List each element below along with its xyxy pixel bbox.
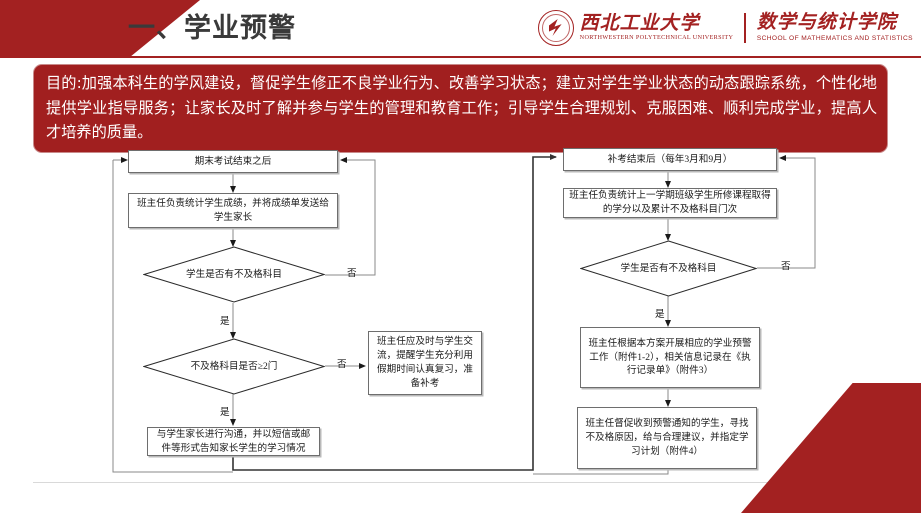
left-action-makeup-node: 班主任应及时与学生交流，提醒学生充分利用假期时间认真复习，准备补考 xyxy=(368,331,482,395)
left-decision1-no-label: 否 xyxy=(347,265,357,279)
right-step2-node: 班主任根据本方案开展相应的学业预警工作（附件1-2），相关信息记录在《执行记录单… xyxy=(580,327,760,388)
slide-root: 一、学业预警 西北工业大学 NORTHWESTERN POLYTECHNICAL… xyxy=(0,0,921,513)
left-decision2-no-label: 否 xyxy=(337,356,347,370)
left-step1-node: 班主任负责统计学生成绩，并将成绩单发送给学生家长 xyxy=(128,193,338,228)
right-decision1-node: 学生是否有不及格科目 xyxy=(580,240,757,297)
right-decision1-label: 学生是否有不及格科目 xyxy=(580,240,757,297)
left-decision2-label: 不及格科目是否≥2门 xyxy=(143,338,325,395)
left-decision2-yes-label: 是 xyxy=(220,404,230,418)
left-start-node: 期末考试结束之后 xyxy=(128,150,338,173)
right-start-node: 补考结束后（每年3月和9月） xyxy=(563,148,777,171)
left-decision1-label: 学生是否有不及格科目 xyxy=(143,246,325,303)
right-step1-node: 班主任负责统计上一学期班级学生所修课程取得的学分以及累计不及格科目门次 xyxy=(563,188,777,218)
right-decision1-no-label: 否 xyxy=(781,258,791,272)
left-decision1-node: 学生是否有不及格科目 xyxy=(143,246,325,303)
left-decision1-yes-label: 是 xyxy=(220,313,230,327)
left-decision2-node: 不及格科目是否≥2门 xyxy=(143,338,325,395)
bottom-divider xyxy=(33,482,888,483)
flowchart-connectors xyxy=(0,0,921,513)
left-action-notify-parents-node: 与学生家长进行沟通，并以短信或邮件等形式告知家长学生的学习情况 xyxy=(147,427,320,456)
right-step3-node: 班主任督促收到预警通知的学生，寻找不及格原因，给与合理建议，并指定学习计划（附件… xyxy=(577,407,757,469)
right-decision1-yes-label: 是 xyxy=(655,306,665,320)
